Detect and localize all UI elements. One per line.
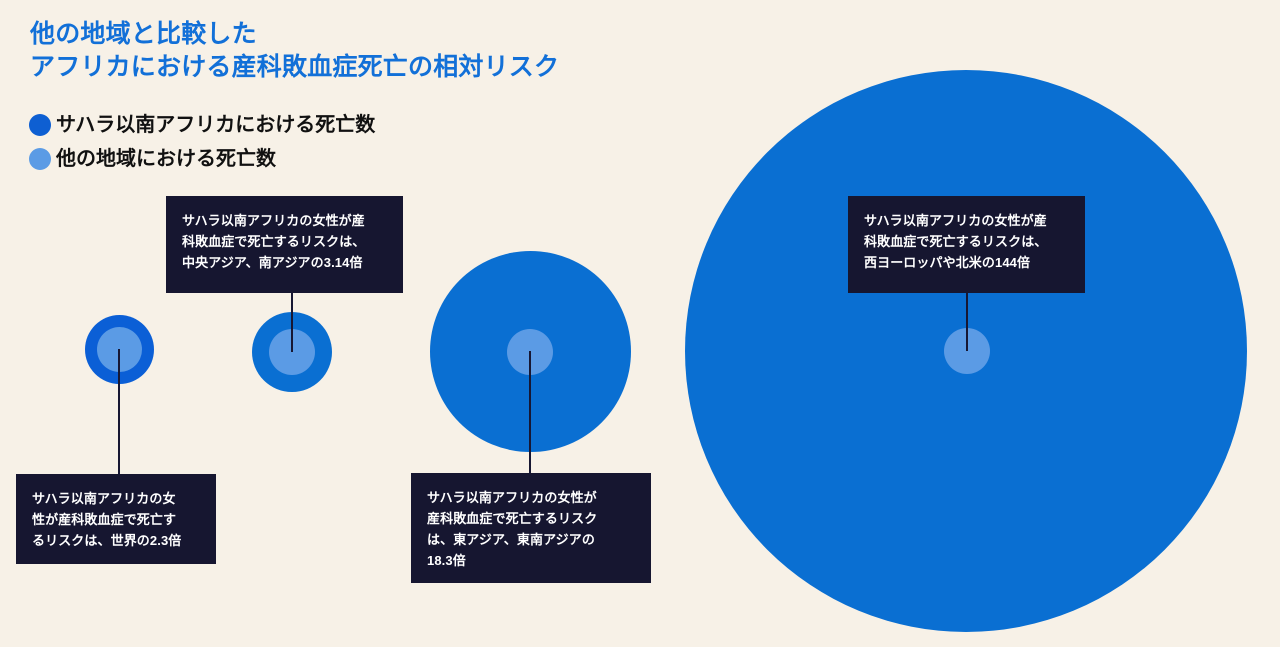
tooltip-text-world: サハラ以南アフリカの女 性が産科敗血症で死亡す るリスクは、世界の2.3倍: [32, 488, 200, 551]
legend-item-other-regions: 他の地域における死亡数: [29, 142, 549, 176]
tooltip-central-south-asia: サハラ以南アフリカの女性が産 科敗血症で死亡するリスクは、 中央アジア、南アジア…: [166, 196, 403, 293]
connector-line-east-southeast-asia: [529, 351, 531, 475]
title-line-2: アフリカにおける産科敗血症死亡の相対リスク: [30, 51, 730, 84]
tooltip-west-europe-north-america: サハラ以南アフリカの女性が産 科敗血症で死亡するリスクは、 西ヨーロッパや北米の…: [848, 196, 1085, 293]
tooltip-text-central-south-asia: サハラ以南アフリカの女性が産 科敗血症で死亡するリスクは、 中央アジア、南アジア…: [182, 210, 387, 273]
connector-line-world: [118, 349, 120, 476]
tooltip-east-southeast-asia: サハラ以南アフリカの女性が 産科敗血症で死亡するリスク は、東アジア、東南アジア…: [411, 473, 651, 583]
tooltip-world: サハラ以南アフリカの女 性が産科敗血症で死亡す るリスクは、世界の2.3倍: [16, 474, 216, 564]
connector-line-west-europe-north-america: [966, 293, 968, 351]
connector-line-central-south-asia: [291, 292, 293, 352]
page-title: 他の地域と比較した アフリカにおける産科敗血症死亡の相対リスク: [30, 18, 730, 85]
tooltip-text-east-southeast-asia: サハラ以南アフリカの女性が 産科敗血症で死亡するリスク は、東アジア、東南アジア…: [427, 487, 635, 571]
legend-label-other-regions: 他の地域における死亡数: [56, 148, 276, 170]
legend-swatch-light-circle-icon: [29, 148, 51, 170]
legend: サハラ以南アフリカにおける死亡数 他の地域における死亡数: [29, 108, 549, 176]
infographic-canvas: 他の地域と比較した アフリカにおける産科敗血症死亡の相対リスク サハラ以南アフリ…: [0, 0, 1280, 647]
legend-label-sub-saharan-africa: サハラ以南アフリカにおける死亡数: [56, 114, 375, 136]
tooltip-text-west-europe-north-america: サハラ以南アフリカの女性が産 科敗血症で死亡するリスクは、 西ヨーロッパや北米の…: [864, 210, 1069, 273]
title-line-1: 他の地域と比較した: [30, 18, 730, 51]
legend-item-sub-saharan-africa: サハラ以南アフリカにおける死亡数: [29, 108, 549, 142]
legend-swatch-dark-circle-icon: [29, 114, 51, 136]
